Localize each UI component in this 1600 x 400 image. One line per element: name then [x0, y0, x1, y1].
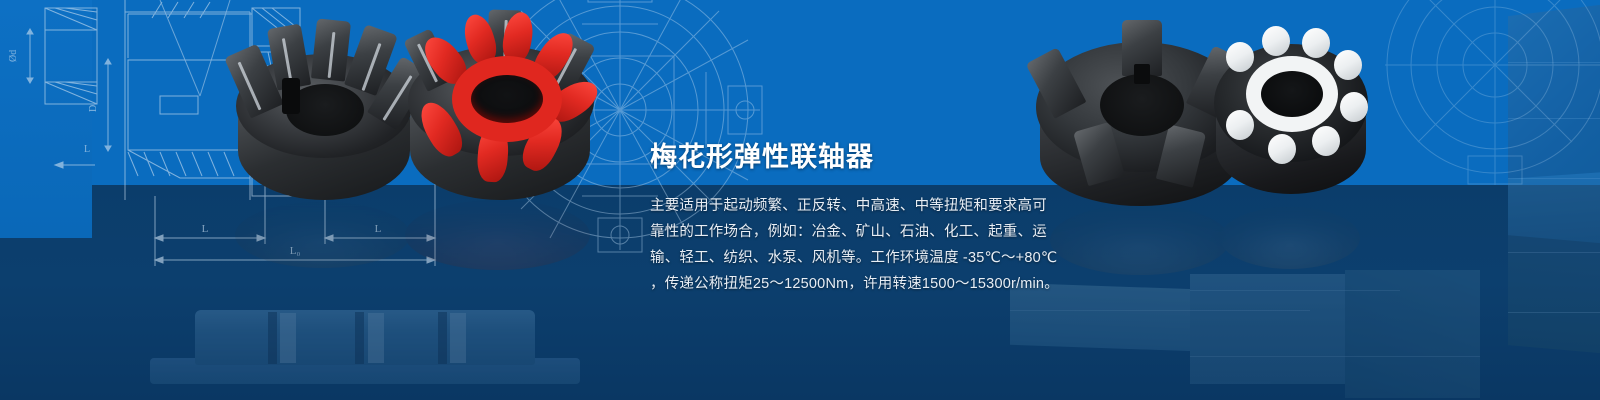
product-reflection-right	[1030, 195, 1390, 285]
ghost-machinery-right	[1508, 0, 1600, 400]
product-reflection-left	[235, 196, 615, 276]
description-line-2: 靠性的工作场合，例如：冶金、矿山、石油、化工、起重、运	[650, 219, 1080, 245]
product-description: 主要适用于起动频繁、正反转、中高速、中等扭矩和要求高可 靠性的工作场合，例如：冶…	[650, 193, 1080, 297]
ghost-machinery-roller	[150, 310, 580, 382]
description-line-3: 输、轻工、纺织、水泵、风机等。工作环境温度 -35℃～+80℃	[650, 245, 1080, 271]
product-jaw-coupling-red-spider	[400, 12, 615, 207]
banner-copy-block: 梅花形弹性联轴器 主要适用于起动频繁、正反转、中高速、中等扭矩和要求高可 靠性的…	[650, 140, 1080, 297]
description-line-1: 主要适用于起动频繁、正反转、中高速、中等扭矩和要求高可	[650, 193, 1080, 219]
product-banner: Ød D L	[0, 0, 1600, 400]
background-left-blue-column	[0, 0, 92, 238]
product-jaw-coupling-white-spider	[1210, 22, 1385, 197]
ghost-machinery-motor	[1010, 270, 1480, 400]
description-line-4: ，传递公称扭矩25～12500Nm，许用转速1500～15300r/min。	[650, 271, 1080, 297]
page-title: 梅花形弹性联轴器	[650, 140, 1080, 174]
